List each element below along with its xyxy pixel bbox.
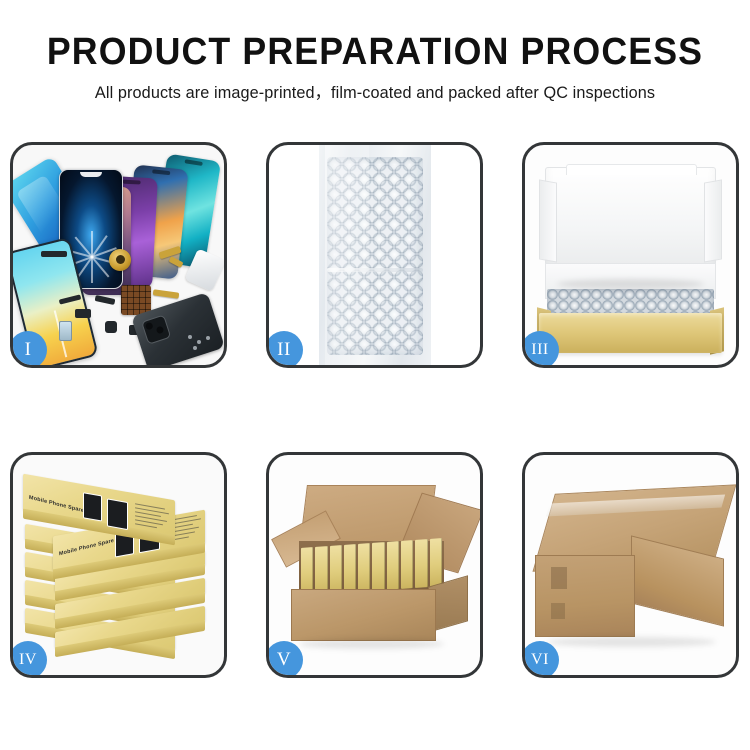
screws-group [188, 335, 214, 351]
mailer-side-flap-right [704, 179, 722, 262]
page-subtitle: All products are image-printed，film-coat… [6, 82, 745, 104]
step-1-image [13, 145, 224, 365]
step-badge-5: V [266, 641, 303, 678]
step-2-image [269, 145, 480, 365]
process-step-panel-4: Mobile Phone Spare Parts Mobile Phone Sp… [10, 452, 227, 678]
page-header: PRODUCT PREPARATION PROCESS All products… [0, 0, 750, 104]
drop-shadow [557, 279, 703, 289]
vibration-coil-part [109, 249, 131, 271]
packed-retail-boxes [301, 538, 442, 596]
step-badge-4: IV [10, 641, 47, 678]
step-4-image: Mobile Phone Spare Parts Mobile Phone Sp… [13, 455, 224, 675]
battery-part [59, 321, 72, 341]
step-3-image [525, 145, 736, 365]
open-shipping-carton [285, 485, 466, 641]
page-title: PRODUCT PREPARATION PROCESS [23, 30, 728, 74]
process-step-panel-2: II [266, 142, 483, 368]
carton-handle-tab [551, 567, 567, 589]
process-step-panel-6: VI [522, 452, 739, 678]
carton-front-panel [291, 589, 436, 641]
step-badge-6: VI [522, 641, 559, 678]
step-5-image [269, 455, 480, 675]
bubble-wrap-sheet [319, 145, 431, 365]
step-badge-2: II [266, 331, 303, 368]
open-mailer-box [539, 167, 722, 317]
speaker-module-part [41, 251, 67, 257]
step-badge-3: III [522, 331, 559, 368]
carton-handle-tab [551, 603, 565, 619]
process-step-panel-1: I [10, 142, 227, 368]
retail-box-stack: Mobile Phone Spare Parts Mobile Phone Sp… [21, 471, 221, 663]
process-step-panel-5: V [266, 452, 483, 678]
connector-part [95, 295, 116, 305]
step-6-image [525, 455, 736, 675]
process-step-panel-3: III [522, 142, 739, 368]
mailer-front-panel [539, 313, 722, 353]
mailer-side-flap-left [539, 179, 557, 262]
sealed-shipping-carton [535, 489, 728, 641]
drop-shadow [299, 639, 444, 649]
connector-part [75, 309, 91, 318]
carton-front-panel [535, 555, 635, 637]
drop-shadow [547, 637, 717, 647]
camera-module-part [105, 321, 117, 333]
flex-cable-part [153, 289, 180, 299]
step-badge-1: I [10, 331, 47, 368]
process-step-grid: I II II [10, 142, 740, 738]
